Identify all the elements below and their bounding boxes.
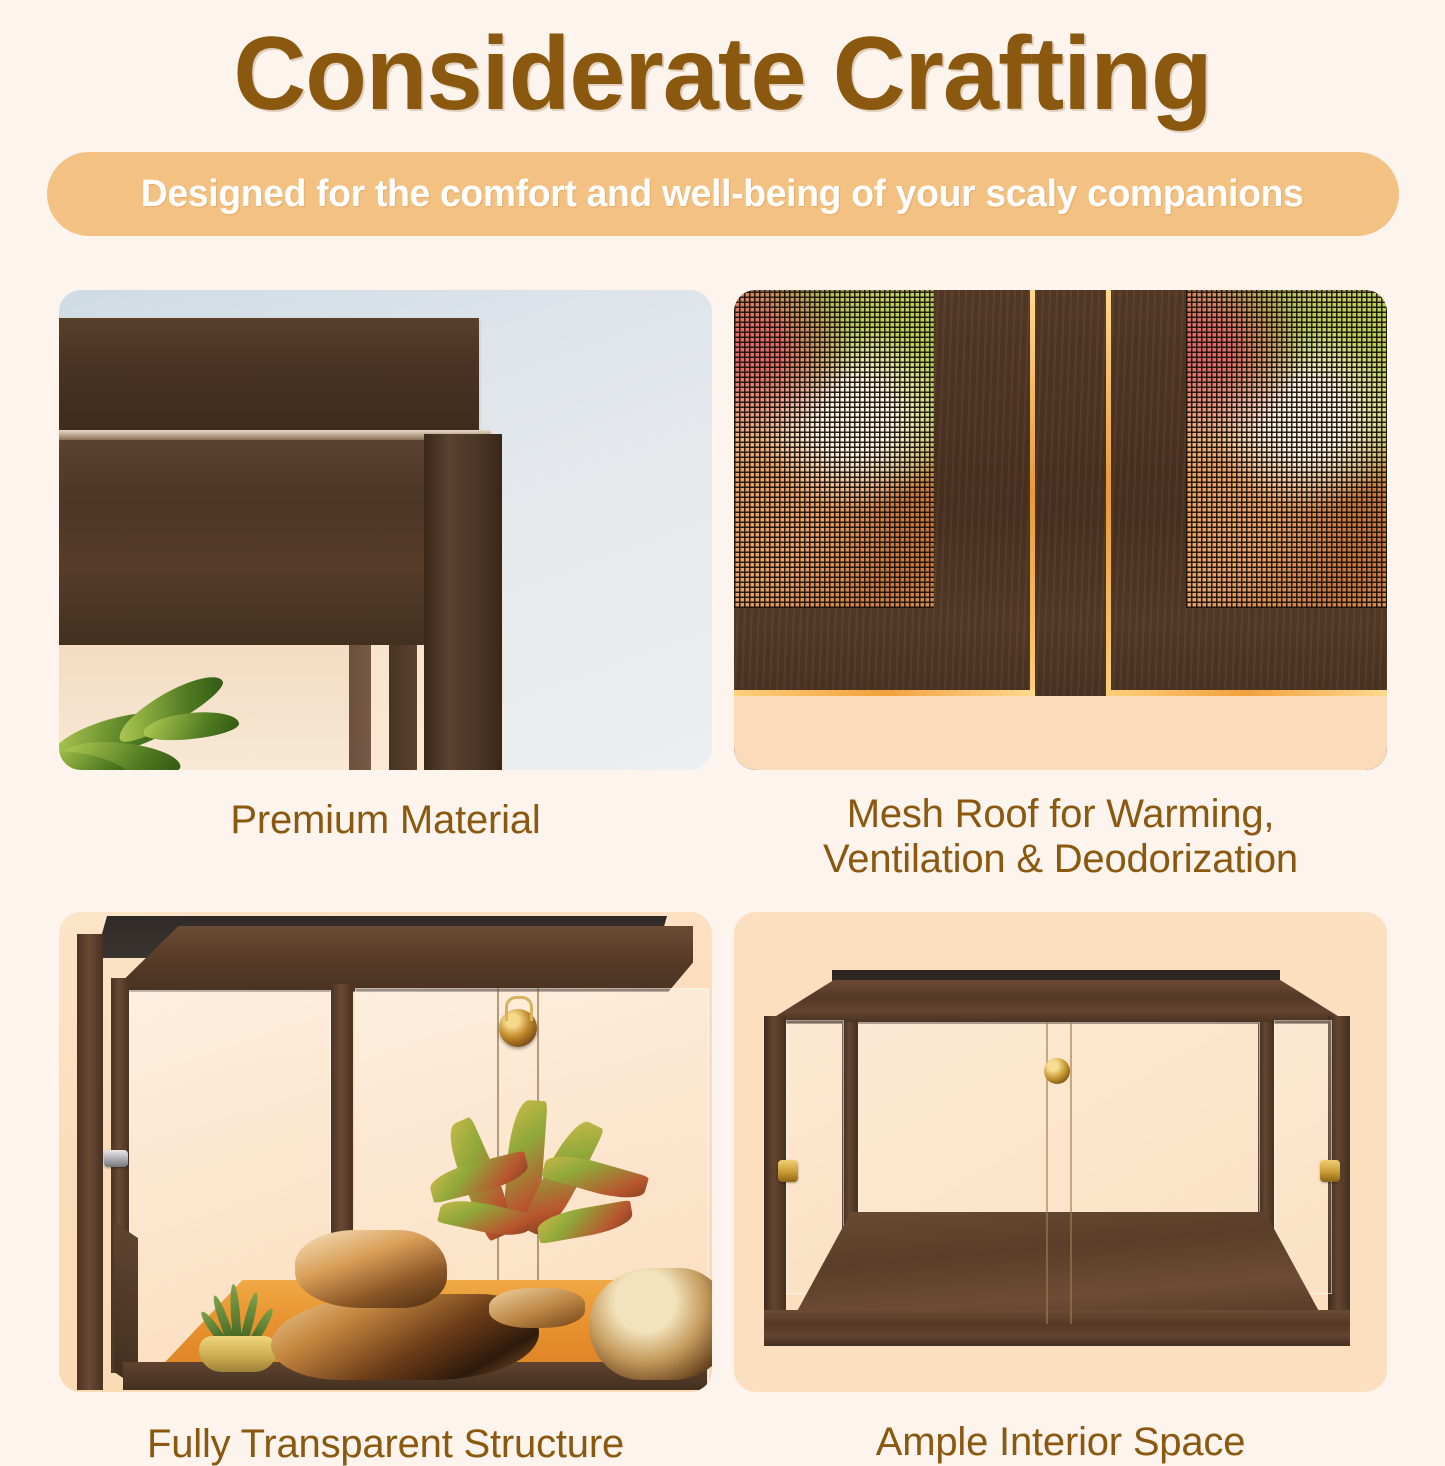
feature-row-top: Premium Material Mesh Roof for: [59, 290, 1387, 882]
caption-ample-interior: Ample Interior Space: [734, 1392, 1387, 1465]
mesh-panel-right: [1186, 290, 1387, 608]
feature-card-mesh-roof: Mesh Roof for Warming, Ventilation & Deo…: [734, 290, 1387, 882]
peach-bottom-band: [734, 696, 1387, 770]
frame-post-left-outer: [77, 934, 103, 1390]
plant-base: [489, 1288, 585, 1328]
subtitle-badge: Designed for the comfort and well-being …: [47, 152, 1399, 236]
left-door-knob[interactable]: [778, 1160, 798, 1182]
center-lock-icon[interactable]: [1044, 1058, 1070, 1084]
subtitle-text: Designed for the comfort and well-being …: [141, 173, 1304, 216]
glow-edge-left-vertical: [1030, 290, 1035, 695]
wood-leg-front: [389, 645, 417, 770]
caption-mesh-roof-line1: Mesh Roof for Warming,: [734, 792, 1387, 837]
mesh-roof-image: [734, 290, 1387, 770]
premium-material-image: [59, 290, 712, 770]
wood-corner-post: [424, 434, 502, 770]
caption-transparent-structure: Fully Transparent Structure: [59, 1392, 712, 1466]
feature-card-transparent-structure: Fully Transparent Structure: [59, 912, 712, 1466]
side-hinge-knob[interactable]: [104, 1150, 128, 1167]
green-plant: [59, 685, 269, 770]
bottom-frame-rail: [764, 1310, 1350, 1346]
caption-mesh-roof-line2: Ventilation & Deodorization: [734, 837, 1387, 882]
page-title: Considerate Crafting: [22, 18, 1424, 130]
right-door-knob[interactable]: [1320, 1160, 1340, 1182]
top-frame-rail: [764, 980, 1350, 1024]
caption-premium-material: Premium Material: [59, 770, 712, 843]
succulent-pot: [199, 1336, 277, 1372]
ample-interior-image: [734, 912, 1387, 1392]
feature-row-bottom: Fully Transparent Structure: [59, 912, 1387, 1466]
rock-decor: [589, 1268, 712, 1380]
wood-leg-back: [349, 645, 371, 770]
door-seam-right: [1070, 1022, 1072, 1324]
header: Considerate Crafting Designed for the co…: [0, 0, 1445, 236]
caption-mesh-roof: Mesh Roof for Warming, Ventilation & Deo…: [734, 770, 1387, 882]
bark-cluster-decor: [295, 1230, 447, 1308]
wood-top-panel: [59, 318, 479, 430]
glow-edge-right-vertical: [1106, 290, 1111, 695]
door-lock-icon[interactable]: [499, 1009, 537, 1047]
feature-grid: Premium Material Mesh Roof for: [59, 290, 1387, 1466]
top-wood-rail: [81, 926, 693, 992]
transparent-structure-image: [59, 912, 712, 1392]
wood-front-panel: [59, 440, 424, 645]
feature-card-premium-material: Premium Material: [59, 290, 712, 882]
feature-card-ample-interior: Ample Interior Space: [734, 912, 1387, 1466]
mesh-panel-left: [734, 290, 934, 608]
terrarium-plant: [433, 1100, 643, 1300]
